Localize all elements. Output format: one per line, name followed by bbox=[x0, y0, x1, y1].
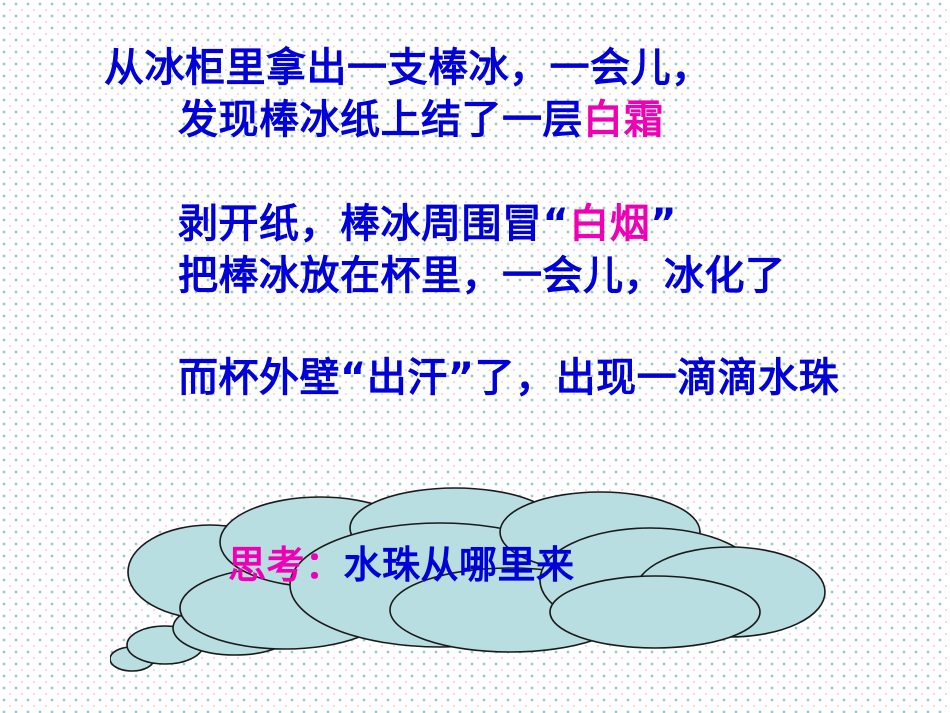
body-line-3: 剥开纸，棒冰周围冒“白烟” bbox=[178, 204, 677, 244]
body-line-5: 而杯外壁“出汗”了，出现一滴滴水珠 bbox=[178, 358, 839, 398]
quote-open: “ bbox=[543, 201, 570, 247]
body-line-2: 发现棒冰纸上结了一层白霜 bbox=[178, 100, 664, 140]
body-line-2-text: 发现棒冰纸上结了一层 bbox=[178, 97, 583, 143]
body-line-1: 从冰柜里拿出一支棒冰，一会儿， bbox=[104, 48, 712, 88]
slide-canvas: 思考：水珠从哪里来 从冰柜里拿出一支棒冰，一会儿， 发现棒冰纸上结了一层白霜 剥… bbox=[0, 0, 950, 713]
body-line-3-text: 剥开纸，棒冰周围冒 bbox=[178, 201, 543, 247]
quote-close: ” bbox=[650, 201, 677, 247]
highlight-bai-yan: 白烟 bbox=[569, 201, 650, 247]
slide-text-layer: 从冰柜里拿出一支棒冰，一会儿， 发现棒冰纸上结了一层白霜 剥开纸，棒冰周围冒“白… bbox=[0, 0, 950, 713]
highlight-bai-shuang: 白霜 bbox=[583, 97, 664, 143]
body-line-4: 把棒冰放在杯里，一会儿，冰化了 bbox=[178, 256, 786, 296]
